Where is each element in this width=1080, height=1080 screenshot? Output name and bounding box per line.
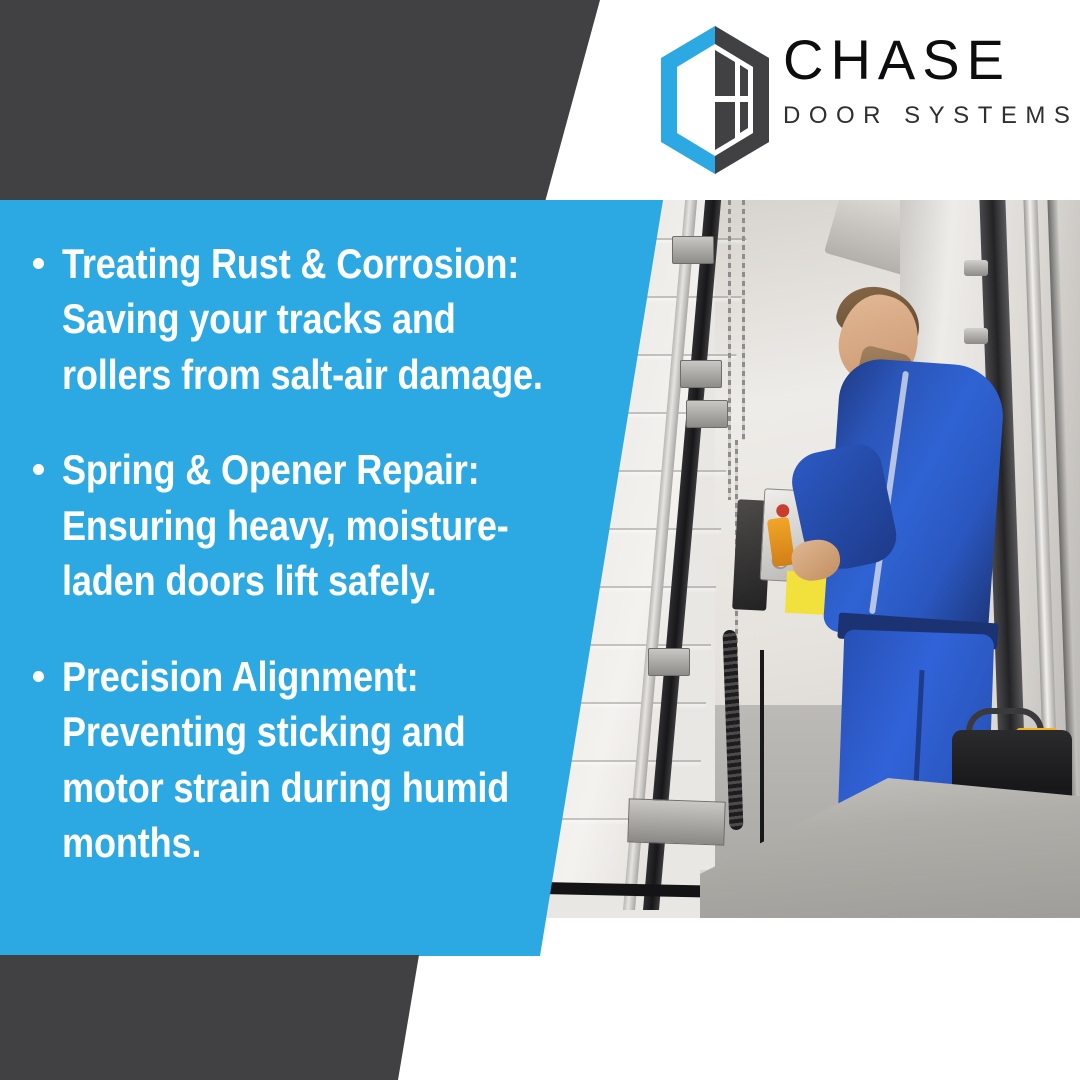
- bullet-text: Treating Rust & Corrosion: Saving your t…: [62, 236, 544, 402]
- control-wire: [760, 650, 764, 860]
- list-item: Spring & Opener Repair: Ensuring heavy, …: [33, 442, 623, 608]
- rail-bracket: [672, 236, 714, 264]
- bullet-text: Spring & Opener Repair: Ensuring heavy, …: [62, 442, 544, 608]
- brand-wordmark: CHASE DOOR SYSTEMS: [783, 32, 1053, 128]
- hoist-chain: [728, 200, 731, 500]
- rail-bracket: [680, 360, 722, 388]
- hoist-chain: [742, 200, 745, 440]
- list-item: Treating Rust & Corrosion: Saving your t…: [33, 236, 623, 402]
- rail-bracket: [648, 648, 690, 676]
- brand-name: CHASE: [783, 32, 1053, 88]
- header-dark-band: [0, 0, 640, 202]
- pipe-clip-icon: [964, 260, 988, 276]
- brand-logo: CHASE DOOR SYSTEMS: [655, 24, 1055, 176]
- bullet-dot-icon: [33, 258, 44, 269]
- bullet-text: Precision Alignment: Preventing sticking…: [62, 649, 544, 871]
- bullet-dot-icon: [33, 464, 44, 475]
- poster-canvas: Treating Rust & Corrosion: Saving your t…: [0, 0, 1080, 1080]
- service-bullet-list: Treating Rust & Corrosion: Saving your t…: [33, 236, 623, 870]
- rail-bracket: [686, 400, 728, 428]
- list-item: Precision Alignment: Preventing sticking…: [33, 649, 623, 871]
- wall-junction-box: [627, 798, 725, 845]
- bullet-dot-icon: [33, 671, 44, 682]
- hexagon-door-window-icon: [655, 24, 775, 176]
- footer-dark-band: [0, 955, 460, 1080]
- brand-tagline: DOOR SYSTEMS: [783, 104, 1053, 128]
- pipe-clip-icon: [964, 328, 988, 344]
